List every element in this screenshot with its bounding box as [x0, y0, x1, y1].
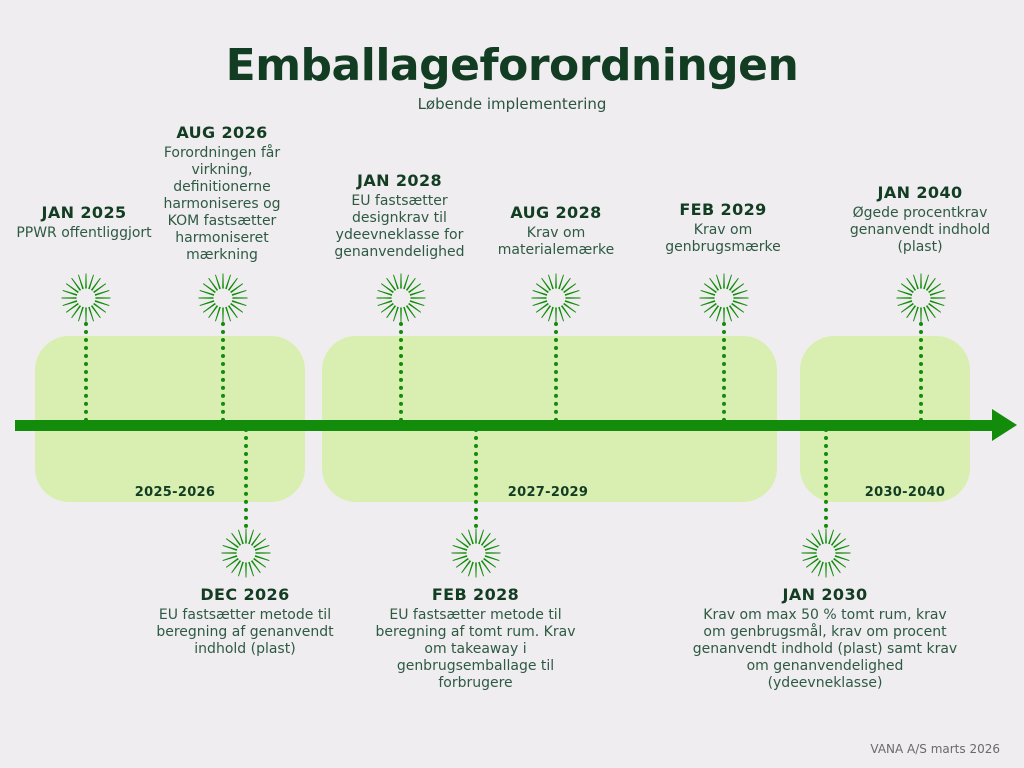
event-date: FEB 2028: [368, 585, 583, 605]
sunburst-icon: [698, 272, 750, 324]
event-description: EU fastsætter metode til beregning af ge…: [150, 607, 340, 658]
event-date: AUG 2028: [486, 203, 626, 223]
period-band-1: [35, 336, 305, 502]
event-below-2: FEB 2028 EU fastsætter metode til beregn…: [368, 585, 583, 692]
event-date: AUG 2026: [148, 123, 296, 143]
connector-below-2: [474, 428, 478, 528]
event-above-6: JAN 2040 Øgede procentkrav genanvendt in…: [834, 183, 1006, 256]
timeline-infographic: Emballageforordningen Løbende implemente…: [0, 0, 1024, 768]
period-band-2: [322, 336, 777, 502]
event-date: JAN 2040: [834, 183, 1006, 203]
event-below-3: JAN 2030 Krav om max 50 % tomt rum, krav…: [690, 585, 960, 692]
event-date: DEC 2026: [150, 585, 340, 605]
sunburst-icon: [375, 272, 427, 324]
event-date: JAN 2028: [318, 171, 481, 191]
event-date: JAN 2030: [690, 585, 960, 605]
sunburst-icon: [450, 527, 502, 579]
sunburst-icon: [530, 272, 582, 324]
event-description: Øgede procentkrav genanvendt indhold (pl…: [834, 205, 1006, 256]
connector-above-3: [399, 322, 403, 422]
connector-above-6: [919, 322, 923, 422]
event-above-5: FEB 2029 Krav om genbrugsmærke: [653, 200, 793, 256]
connector-above-2: [221, 322, 225, 422]
page-subtitle: Løbende implementering: [0, 95, 1024, 113]
sunburst-icon: [197, 272, 249, 324]
event-below-1: DEC 2026 EU fastsætter metode til beregn…: [150, 585, 340, 658]
connector-above-5: [722, 322, 726, 422]
event-description: PPWR offentliggjort: [9, 225, 159, 242]
event-description: Forordningen får virkning, definitionern…: [148, 145, 296, 264]
event-description: Krav om max 50 % tomt rum, krav om genbr…: [690, 607, 960, 692]
event-description: Krav om materialemærke: [486, 225, 626, 259]
timeline-axis: [15, 420, 1000, 431]
timeline-arrow-icon: [992, 409, 1017, 441]
event-description: EU fastsætter designkrav til ydeevneklas…: [318, 193, 481, 261]
event-description: Krav om genbrugsmærke: [653, 222, 793, 256]
connector-above-4: [554, 322, 558, 422]
connector-below-3: [824, 428, 828, 528]
period-label-2: 2027-2029: [493, 485, 603, 500]
credit-text: VANA A/S marts 2026: [870, 742, 1000, 756]
sunburst-icon: [895, 272, 947, 324]
event-above-1: JAN 2025 PPWR offentliggjort: [9, 203, 159, 242]
period-label-1: 2025-2026: [120, 485, 230, 500]
sunburst-icon: [60, 272, 112, 324]
event-date: JAN 2025: [9, 203, 159, 223]
sunburst-icon: [220, 527, 272, 579]
sunburst-icon: [800, 527, 852, 579]
page-title: Emballageforordningen: [0, 40, 1024, 91]
event-above-3: JAN 2028 EU fastsætter designkrav til yd…: [318, 171, 481, 261]
event-above-4: AUG 2028 Krav om materialemærke: [486, 203, 626, 259]
connector-above-1: [84, 322, 88, 422]
event-date: FEB 2029: [653, 200, 793, 220]
event-above-2: AUG 2026 Forordningen får virkning, defi…: [148, 123, 296, 264]
connector-below-1: [244, 428, 248, 528]
event-description: EU fastsætter metode til beregning af to…: [368, 607, 583, 692]
period-label-3: 2030-2040: [850, 485, 960, 500]
